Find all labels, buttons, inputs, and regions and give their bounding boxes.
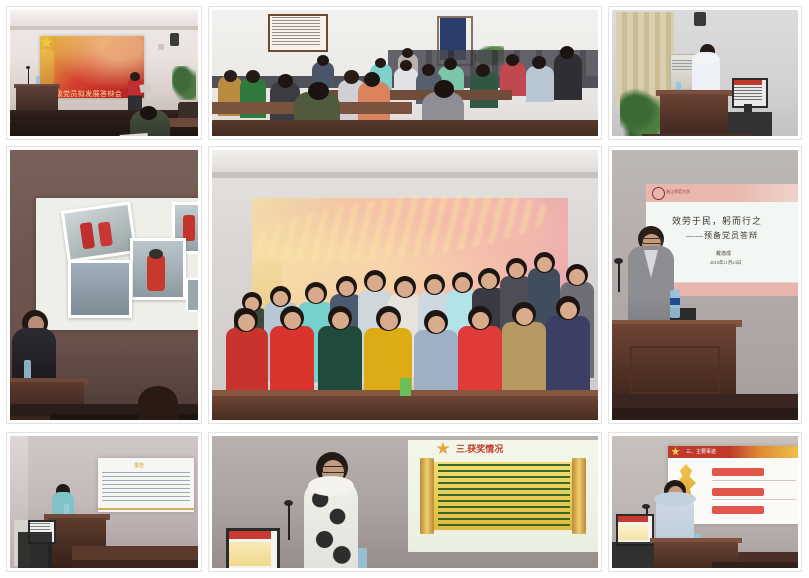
group-member-face <box>472 312 489 329</box>
front-table <box>212 396 598 420</box>
group-member-face <box>367 275 383 291</box>
slide-title: 效劳于民，躬而行之 <box>672 214 762 227</box>
photo-panel-top-left[interactable]: 2013级党员拟发展答辩会 <box>6 6 202 140</box>
group-member-face <box>537 257 552 272</box>
audience-head <box>434 80 454 98</box>
bench-foreground <box>612 408 798 420</box>
photo-image-7: 报告 <box>10 436 198 568</box>
group-member-face <box>560 302 577 319</box>
eyeglasses-icon <box>322 466 346 473</box>
ceiling-edge <box>10 26 198 30</box>
monitor-header-bar <box>618 516 648 522</box>
photo-image-5: 2013级党员拟发展答辩会 <box>212 150 598 420</box>
potted-plant <box>172 66 196 100</box>
slide-heading: 三.获奖情况 <box>456 442 503 455</box>
group-member-front <box>502 322 546 396</box>
water-bottle <box>358 548 367 568</box>
monitor-slide-preview <box>229 542 271 566</box>
podium-panel <box>630 346 720 394</box>
photo-image-8: 三.获奖情况 <box>212 436 598 568</box>
audience-member <box>526 66 554 102</box>
desk-row <box>72 546 198 560</box>
photo-image-6: 浙江师范大学 效劳于民，躬而行之 ——预备党员答辩 戴逸成 2016年11月23… <box>612 150 798 420</box>
speaker-head <box>130 72 140 81</box>
slide-photo-extra <box>186 278 198 312</box>
group-member-face <box>238 314 255 331</box>
ceiling <box>10 10 198 26</box>
audience-head <box>532 56 546 69</box>
audience-head <box>506 54 519 66</box>
audience-head <box>422 64 435 76</box>
group-member-front <box>546 316 590 396</box>
monitor-stand <box>744 104 752 112</box>
equipment-cart <box>612 542 654 568</box>
audience-head <box>246 70 260 83</box>
photo-collage: 2013级党员拟发展答辩会 <box>0 0 809 578</box>
monitor-header-bar <box>734 80 762 85</box>
slide-author: 戴逸成 <box>716 250 731 257</box>
slide-body-lines <box>102 472 190 502</box>
group-member-face <box>481 273 497 289</box>
slide-photo-street <box>68 260 132 318</box>
slide-rule-line <box>712 499 796 500</box>
group-member-face <box>397 281 413 297</box>
foreground-head <box>138 386 178 420</box>
audience-head <box>317 55 329 66</box>
photo-panel-middle-left[interactable] <box>6 146 202 424</box>
group-member-face <box>339 281 354 296</box>
slide-bullet-box <box>712 488 764 496</box>
microphone-stand <box>288 504 290 540</box>
photo-image-4 <box>10 150 198 420</box>
group-member-face <box>455 277 470 292</box>
bench-foreground <box>712 562 798 568</box>
calligraphy-text <box>272 17 320 45</box>
slide-subtitle: ——预备党员答辩 <box>686 230 758 241</box>
audience-head <box>278 74 293 88</box>
equipment-cart <box>728 112 772 136</box>
group-member-front <box>226 328 268 396</box>
scroll-text-lines <box>438 464 570 528</box>
ceiling <box>212 150 598 172</box>
equipment-cart <box>18 532 52 568</box>
audience-head <box>308 82 329 100</box>
bench-row <box>612 394 798 408</box>
group-member-face <box>509 263 524 278</box>
audience-head <box>364 72 380 87</box>
slide-photo-volunteers <box>61 201 138 262</box>
table <box>642 134 752 136</box>
group-member-face <box>308 287 324 303</box>
slide-underline <box>98 508 194 510</box>
group-member-face <box>332 312 349 329</box>
photo-panel-top-right[interactable] <box>608 6 802 140</box>
photo-panel-center-group[interactable]: 2013级党员拟发展答辩会 <box>208 146 602 424</box>
eyeglasses-icon <box>642 238 663 244</box>
slide-bullet-box <box>712 468 764 476</box>
group-member-front <box>458 326 502 396</box>
hood-collar <box>654 492 696 506</box>
slide-photo-red-coat <box>130 238 186 300</box>
group-member-face <box>284 312 301 329</box>
group-member-face <box>427 279 442 294</box>
photo-image-9: 三、主要事迹 <box>612 436 798 568</box>
seated-student-head <box>140 106 157 120</box>
bottle-label <box>670 298 680 305</box>
audience-head <box>444 58 457 70</box>
bench-row <box>738 552 798 562</box>
group-member-face <box>428 316 445 333</box>
audience-head <box>344 70 359 84</box>
audience-head <box>402 48 413 58</box>
group-member-face <box>273 291 288 306</box>
group-member-face <box>569 269 585 285</box>
wall-speaker-icon <box>694 12 706 26</box>
microphone-stand <box>618 262 620 292</box>
photo-panel-bottom-right[interactable]: 三、主要事迹 <box>608 432 802 572</box>
group-member-front <box>318 326 362 396</box>
slide-heading: 报告 <box>134 462 144 469</box>
cup-on-table <box>400 378 411 398</box>
group-member-face <box>516 308 533 325</box>
university-logo-icon <box>652 187 665 200</box>
torch-graphic <box>40 49 54 89</box>
scroll-rod-right <box>572 458 586 534</box>
photo-image-1: 2013级党员拟发展答辩会 <box>10 10 198 136</box>
podium <box>660 94 728 136</box>
monitor-header-bar <box>229 531 271 539</box>
photo-panel-top-center[interactable] <box>208 6 602 140</box>
audience-head <box>400 60 412 71</box>
wall-speaker-icon <box>170 33 179 46</box>
audience-head <box>476 64 490 77</box>
audience-head <box>375 58 386 68</box>
photo-image-2 <box>212 10 598 136</box>
group-member-front <box>414 330 458 396</box>
slide-date: 2016年11月23日 <box>710 260 741 266</box>
party-emblem-icon <box>40 36 53 49</box>
university-name: 浙江师范大学 <box>666 189 690 195</box>
monitor-slide-preview <box>618 524 648 540</box>
audience-head <box>560 46 574 59</box>
photo-panel-middle-right[interactable]: 浙江师范大学 效劳于民，躬而行之 ——预备党员答辩 戴逸成 2016年11月23… <box>608 146 802 424</box>
audience-head <box>224 70 237 82</box>
desk-foreground <box>212 120 598 136</box>
wall-box <box>158 44 164 50</box>
photo-panel-bottom-left[interactable]: 报告 <box>6 432 202 572</box>
audience-member <box>554 54 582 100</box>
fur-collar <box>692 54 720 64</box>
monitor-content-lines <box>734 87 762 101</box>
desk-foreground <box>72 560 198 568</box>
slide-rule-line <box>712 480 796 481</box>
photo-image-3 <box>612 10 798 136</box>
fur-collar <box>308 476 354 496</box>
group-member-front <box>270 326 314 396</box>
photo-panel-bottom-center[interactable]: 三.获奖情况 <box>208 432 602 572</box>
water-bottle <box>24 360 31 380</box>
slide-bullet-box <box>712 506 764 514</box>
slide-heading: 三、主要事迹 <box>686 448 716 455</box>
scroll-rod-left <box>420 458 434 534</box>
ceiling-edge <box>212 172 598 178</box>
group-member-face <box>380 312 398 330</box>
